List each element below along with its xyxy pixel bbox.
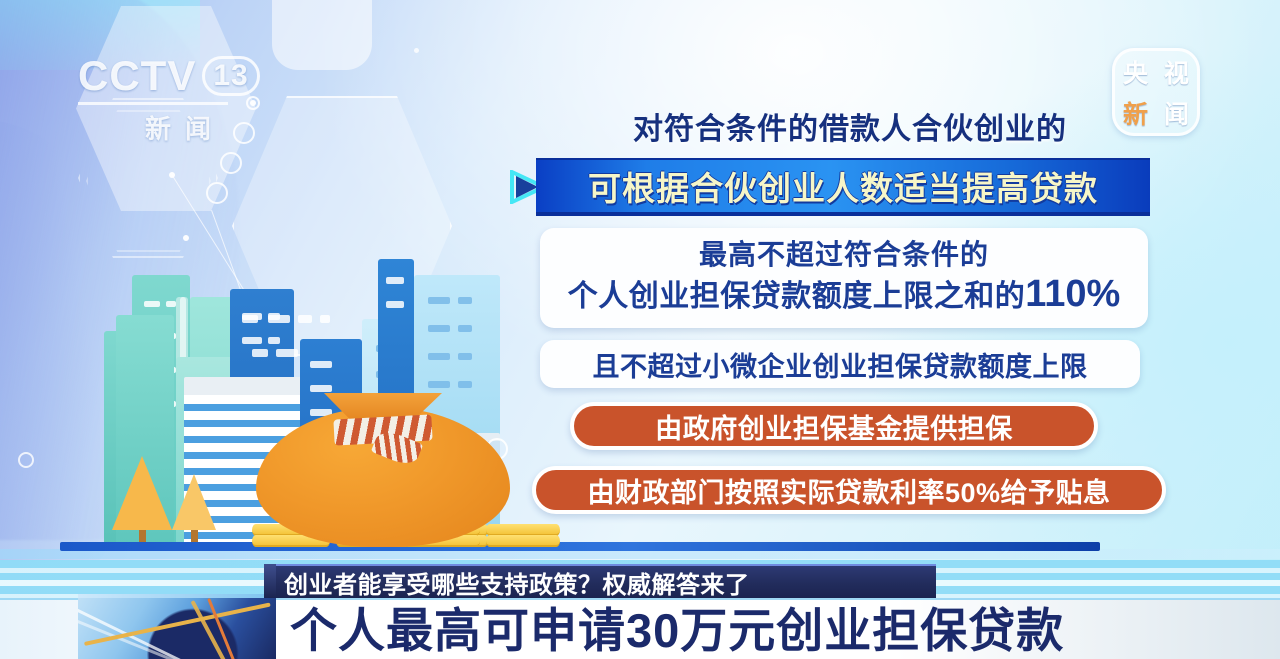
tree-small bbox=[172, 474, 216, 542]
app-logo-char-2: 视 bbox=[1164, 54, 1189, 90]
ground-bar bbox=[60, 542, 1100, 551]
cctv-logo-text: CCTV bbox=[78, 52, 196, 100]
info-pill-interest-subsidy: 由财政部门按照实际贷款利率50%给予贴息 bbox=[532, 466, 1166, 514]
subtitle-strip: 创业者能享受哪些支持政策？权威解答来了 bbox=[276, 564, 936, 598]
headline-text: 个人最高可申请30万元创业担保贷款 bbox=[290, 601, 1064, 659]
highlight-bar: 可根据合伙创业人数适当提高贷款 bbox=[536, 158, 1150, 216]
info-card-limit-value: 110% bbox=[1025, 273, 1120, 315]
info-card-limit-line2: 个人创业担保贷款额度上限之和的 bbox=[568, 280, 1026, 313]
info-card-sme-cap: 且不超过小微企业创业担保贷款额度上限 bbox=[540, 340, 1140, 388]
cctv-logo-underline bbox=[78, 102, 228, 105]
info-card-limit: 最高不超过符合条件的 个人创业担保贷款额度上限之和的110% bbox=[540, 228, 1148, 328]
cctv-logo-number: 13 bbox=[202, 56, 259, 96]
corner-thumbnail bbox=[78, 598, 276, 659]
app-logo-char-4: 闻 bbox=[1164, 95, 1189, 131]
highlight-bar-text: 可根据合伙创业人数适当提高贷款 bbox=[588, 162, 1098, 210]
tree-large bbox=[112, 456, 172, 542]
app-logo-char-1: 央 bbox=[1123, 54, 1148, 90]
money-bag-illustration bbox=[256, 389, 510, 547]
background-ring-3 bbox=[220, 152, 242, 174]
infographic-heading: 对符合条件的借款人合伙创业的 bbox=[540, 104, 1160, 148]
info-card-limit-line1: 最高不超过符合条件的 bbox=[699, 238, 989, 272]
cctv13-channel-logo: CCTV 13 新闻 bbox=[78, 52, 268, 142]
info-card-sme-cap-text: 且不超过小微企业创业担保贷款额度上限 bbox=[593, 345, 1088, 384]
subtitle-text: 创业者能享受哪些支持政策？权威解答来了 bbox=[284, 565, 750, 600]
info-pill-interest-subsidy-text: 由财政部门按照实际贷款利率50%给予贴息 bbox=[587, 471, 1110, 510]
background-rounded-block bbox=[272, 0, 372, 70]
broadcast-frame: CCTV 13 新闻 央 视 新 闻 对符合条件的借款人合伙创业的 可根据合伙创… bbox=[0, 0, 1280, 659]
cctv-logo-subtitle: 新闻 bbox=[78, 109, 268, 146]
background-dot-4 bbox=[414, 48, 419, 53]
info-pill-guarantee-fund: 由政府创业担保基金提供担保 bbox=[570, 402, 1098, 450]
background-dot-2 bbox=[169, 172, 175, 178]
info-pill-guarantee-fund-text: 由政府创业担保基金提供担保 bbox=[655, 407, 1013, 446]
